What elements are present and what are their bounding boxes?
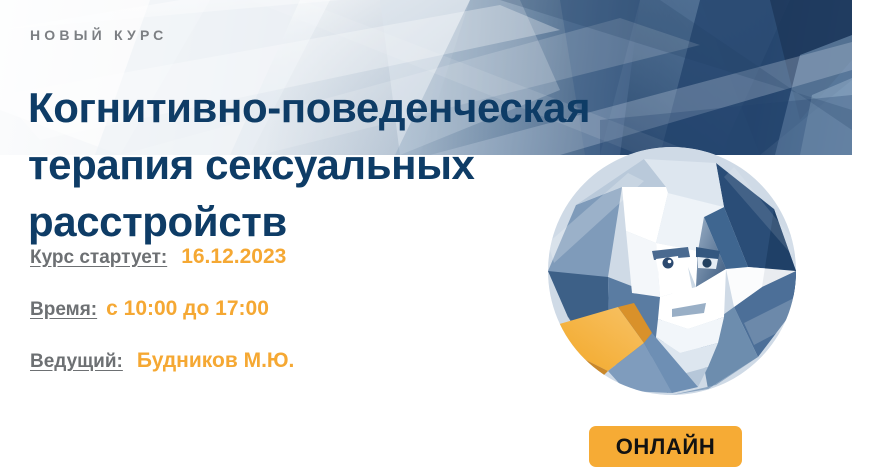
detail-row-start-date: Курс стартует: 16.12.2023: [30, 245, 294, 297]
portrait-avatar: [548, 147, 796, 395]
detail-label-presenter: Ведущий:: [30, 351, 123, 373]
title-line-1: Когнитивно-поведенческая: [28, 79, 728, 136]
eyebrow-label: НОВЫЙ КУРС: [30, 27, 167, 43]
online-badge-label: ОНЛАЙН: [616, 434, 716, 460]
detail-row-presenter: Ведущий: Будников М.Ю.: [30, 349, 294, 401]
detail-value-start-date: 16.12.2023: [181, 245, 286, 269]
detail-value-time: с 10:00 до 17:00: [106, 297, 269, 321]
detail-label-time: Время:: [30, 299, 97, 321]
online-badge[interactable]: ОНЛАЙН: [589, 426, 742, 467]
detail-row-time: Время: с 10:00 до 17:00: [30, 297, 294, 349]
course-promo-banner: НОВЫЙ КУРС Когнитивно-поведенческая тера…: [0, 0, 882, 474]
course-details: Курс стартует: 16.12.2023 Время: с 10:00…: [30, 245, 294, 401]
detail-value-presenter: Будников М.Ю.: [137, 349, 295, 373]
detail-label-start-date: Курс стартует:: [30, 247, 167, 269]
